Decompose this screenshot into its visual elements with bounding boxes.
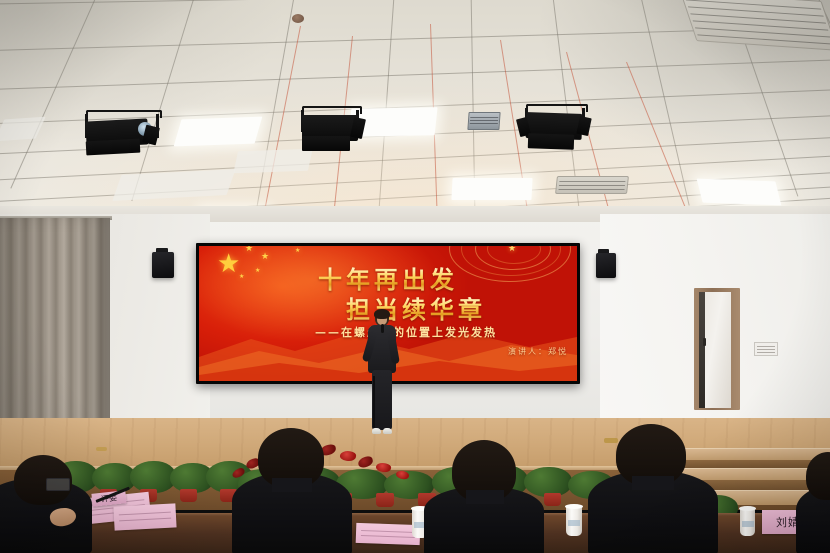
door-opening <box>699 292 705 408</box>
ceiling <box>0 0 830 232</box>
flag-star-icon: ★ <box>295 248 300 254</box>
wall-speaker-right <box>596 253 616 278</box>
flower-pot <box>376 493 394 507</box>
ceiling-panel-light <box>174 117 263 147</box>
anthurium-flower <box>339 450 356 462</box>
audience-neck <box>272 478 312 492</box>
presenter-on-stage <box>364 310 400 444</box>
audience-neck <box>466 490 504 504</box>
stage-spotlight <box>522 104 598 160</box>
flower-pot <box>180 489 197 502</box>
flag-star-icon: ★ <box>245 246 253 253</box>
window-curtain[interactable] <box>0 218 110 433</box>
microphone-icon <box>381 324 384 333</box>
stage-spotlight <box>82 110 168 165</box>
floor-object <box>96 447 107 451</box>
flower-pot <box>544 493 561 506</box>
presenter-shoe <box>372 428 381 434</box>
presenter-hair <box>374 309 390 319</box>
auditorium-scene: ★ ★ ★ ★ ★ ★ ★ 十年再出发 担当续华章 ——在螺丝钉的位置上发光发热… <box>0 0 830 553</box>
ceiling-panel-light <box>451 178 532 200</box>
floor-object <box>604 438 618 443</box>
score-sheet[interactable] <box>113 503 176 530</box>
eyeglasses-icon <box>46 478 70 491</box>
wall-speaker-left <box>152 252 174 278</box>
score-sheet[interactable] <box>356 523 421 545</box>
presenter-shoe <box>383 428 392 434</box>
door-handle-icon[interactable] <box>703 338 706 346</box>
presenter-legs <box>372 370 392 430</box>
ceiling-panel-light <box>697 179 782 206</box>
decorative-star-icon: ★ <box>508 246 516 253</box>
ac-vent <box>555 176 629 194</box>
audience-neck <box>632 476 674 490</box>
stage-spotlight <box>300 106 370 162</box>
wall-sign <box>754 342 778 356</box>
paper-cup <box>740 508 755 536</box>
paper-cup <box>566 506 582 536</box>
ceiling-device-plate <box>467 112 500 130</box>
smoke-detector-icon <box>292 14 304 23</box>
anthurium-flower <box>357 455 374 469</box>
